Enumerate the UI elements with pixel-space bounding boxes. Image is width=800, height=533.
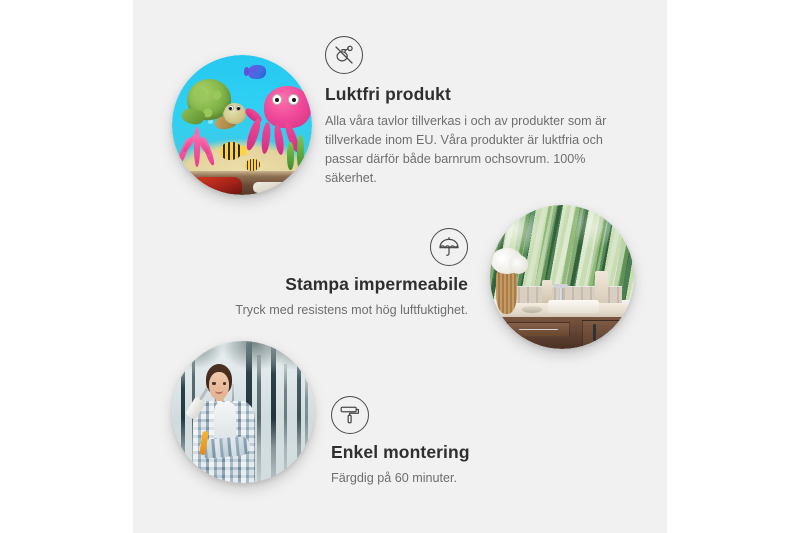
octopus-eye-left — [272, 94, 282, 105]
wooden-cabinet — [502, 317, 634, 349]
umbrella-icon — [430, 228, 468, 266]
turtle-eye-left — [228, 105, 234, 111]
feature-easy-mounting: Enkel montering Färgdig på 60 minuter. — [331, 396, 591, 488]
octopus-tentacle — [260, 122, 272, 155]
feature-waterproof-print: Stampa impermeabile Tryck med resistens … — [193, 228, 468, 320]
feature-description: Alla våra tavlor tillverkas i och av pro… — [325, 112, 625, 189]
blue-fish — [248, 65, 266, 79]
feature-title: Stampa impermeabile — [193, 274, 468, 296]
infographic-stage: Luktfri produkt Alla våra tavlor tillver… — [0, 0, 800, 533]
feature-description: Tryck med resistens mot hög luftfuktighe… — [193, 301, 468, 320]
yellow-striped-fish — [220, 142, 242, 160]
foreground-furniture-strip — [172, 171, 312, 195]
no-fragrance-spray-bottle-icon — [325, 36, 363, 74]
ribbed-vase — [496, 268, 518, 314]
photo-underwater-scene — [172, 55, 312, 195]
seaweed — [297, 135, 304, 171]
turtle-head — [224, 103, 246, 123]
octopus-eye-right — [288, 94, 298, 105]
cabinet-drawer — [507, 322, 570, 337]
octopus-tentacle — [244, 117, 263, 152]
feature-title: Luktfri produkt — [325, 84, 625, 106]
photo-woman-painter-forest — [172, 341, 314, 483]
paint-roller-icon — [331, 396, 369, 434]
feature-odour-free: Luktfri produkt Alla våra tavlor tillver… — [325, 36, 625, 188]
content-panel: Luktfri produkt Alla våra tavlor tillver… — [133, 0, 667, 533]
smile — [215, 389, 223, 395]
soap-dish — [522, 306, 542, 313]
white-tshirt — [214, 402, 235, 438]
cabinet-door — [582, 320, 629, 349]
feature-description: Färgdig på 60 minuter. — [331, 469, 591, 488]
turtle-eye-right — [236, 105, 242, 111]
woman-painter — [186, 364, 268, 483]
photo-bathroom-vanity — [490, 205, 634, 349]
feature-title: Enkel montering — [331, 442, 591, 464]
sink-basin — [548, 300, 600, 313]
pink-coral — [178, 125, 220, 167]
seaweed — [287, 142, 294, 170]
white-flowers — [491, 248, 523, 274]
